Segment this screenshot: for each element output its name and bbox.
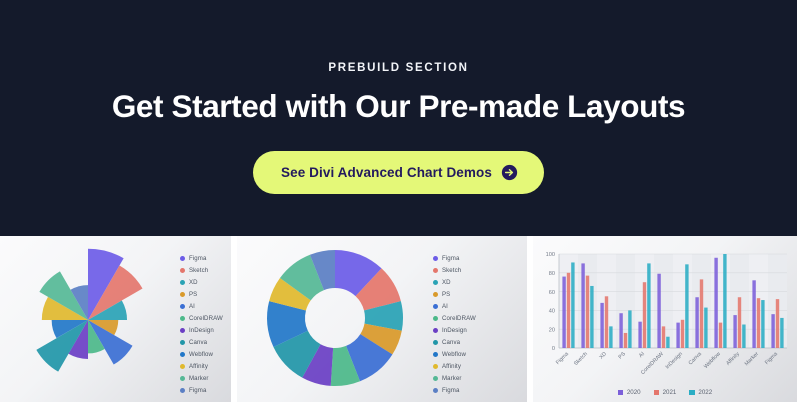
legend-item[interactable]: Affinity xyxy=(180,361,223,372)
bar-2021-Figma xyxy=(776,299,779,348)
legend-item-label: Figma xyxy=(189,387,206,394)
legend-item-label: AI xyxy=(189,303,195,310)
legend-item-label: XD xyxy=(189,279,198,286)
legend-item-label: Marker xyxy=(189,375,209,382)
bar-2021-PS xyxy=(624,333,627,348)
x-axis-tick-label: Figma xyxy=(555,351,570,366)
legend-item[interactable]: Figma xyxy=(180,253,223,264)
legend-item[interactable]: Canva xyxy=(180,337,223,348)
legend-item-label: Affinity xyxy=(189,363,208,370)
legend-item[interactable]: PS xyxy=(180,289,223,300)
legend-item[interactable]: Figma xyxy=(180,385,223,396)
bar-legend-item-2020[interactable]: 2020 xyxy=(618,389,641,396)
legend-item-label: Figma xyxy=(442,255,459,262)
bar-legend-label: 2020 xyxy=(627,389,641,396)
bar-2020-Figma xyxy=(771,314,774,348)
legend-swatch-rose-8 xyxy=(180,352,185,357)
legend-item-label: Affinity xyxy=(442,363,461,370)
bar-chart-graphic: 020406080100FigmaSketchXDPSAICorelDRAWIn… xyxy=(533,244,797,394)
legend-swatch-rose-4 xyxy=(180,304,185,309)
y-axis-tick-label: 100 xyxy=(546,252,555,258)
bar-legend-item-2021[interactable]: 2021 xyxy=(654,389,677,396)
bar-2020-Webflow xyxy=(714,258,717,348)
bar-2021-CorelDRAW xyxy=(662,326,665,348)
legend-swatch-donut-10 xyxy=(433,376,438,381)
bar-2021-Figma xyxy=(567,273,570,348)
legend-swatch-rose-1 xyxy=(180,268,185,273)
legend-swatch-rose-7 xyxy=(180,340,185,345)
panel-bar-chart[interactable]: 020406080100FigmaSketchXDPSAICorelDRAWIn… xyxy=(533,236,797,402)
legend-item-label: InDesign xyxy=(189,327,214,334)
legend-item[interactable]: Marker xyxy=(433,373,476,384)
legend-item[interactable]: Figma xyxy=(433,253,476,264)
bar-2020-Sketch xyxy=(581,263,584,348)
eyebrow-label: PREBUILD SECTION xyxy=(328,62,468,74)
legend-swatch-donut-0 xyxy=(433,256,438,261)
bar-2022-Affinity xyxy=(742,325,745,349)
x-axis-tick-label: Affinity xyxy=(725,351,741,367)
legend-swatch-donut-11 xyxy=(433,388,438,393)
legend-item-label: Canva xyxy=(189,339,207,346)
legend-swatch-rose-2 xyxy=(180,280,185,285)
legend-item[interactable]: Sketch xyxy=(433,265,476,276)
bar-2021-AI xyxy=(643,282,646,348)
panel-rose-chart[interactable]: FigmaSketchXDPSAICorelDRAWInDesignCanvaW… xyxy=(0,236,231,402)
legend-item[interactable]: InDesign xyxy=(433,325,476,336)
bar-legend-label: 2021 xyxy=(663,389,677,396)
legend-swatch-donut-6 xyxy=(433,328,438,333)
legend-swatch-donut-5 xyxy=(433,316,438,321)
rose-chart-graphic xyxy=(0,236,180,402)
y-axis-tick-label: 20 xyxy=(549,327,555,333)
legend-item[interactable]: Marker xyxy=(180,373,223,384)
legend-swatch-rose-10 xyxy=(180,376,185,381)
legend-item[interactable]: XD xyxy=(180,277,223,288)
bar-2021-Affinity xyxy=(738,297,741,348)
legend-swatch-donut-9 xyxy=(433,364,438,369)
donut-chart-legend: FigmaSketchXDPSAICorelDRAWInDesignCanvaW… xyxy=(433,253,476,396)
x-axis-tick-label: Webflow xyxy=(703,351,722,370)
legend-item[interactable]: Affinity xyxy=(433,361,476,372)
bar-2021-Webflow xyxy=(719,323,722,348)
bar-legend-swatch xyxy=(618,390,624,396)
legend-swatch-donut-8 xyxy=(433,352,438,357)
bar-legend-swatch xyxy=(654,390,660,396)
bar-legend-item-2022[interactable]: 2022 xyxy=(689,389,712,396)
donut-chart-graphic xyxy=(237,236,433,402)
legend-swatch-donut-1 xyxy=(433,268,438,273)
legend-swatch-rose-3 xyxy=(180,292,185,297)
y-axis-tick-label: 80 xyxy=(549,271,555,277)
bar-2021-Marker xyxy=(757,298,760,348)
legend-swatch-rose-0 xyxy=(180,256,185,261)
x-axis-tick-label: Sketch xyxy=(573,351,589,367)
legend-item[interactable]: Webflow xyxy=(180,349,223,360)
bar-2022-PS xyxy=(628,310,631,348)
legend-item-label: Sketch xyxy=(189,267,208,274)
y-axis-tick-label: 40 xyxy=(549,309,555,315)
bar-2022-InDesign xyxy=(685,264,688,348)
x-axis-tick-label: AI xyxy=(638,351,646,359)
see-chart-demos-button[interactable]: See Divi Advanced Chart Demos xyxy=(253,151,544,194)
legend-item[interactable]: CorelDRAW xyxy=(433,313,476,324)
legend-item-label: Webflow xyxy=(442,351,466,358)
bar-2020-Figma xyxy=(562,277,565,348)
page-root: PREBUILD SECTION Get Started with Our Pr… xyxy=(0,0,797,402)
legend-item-label: Figma xyxy=(189,255,206,262)
bar-2020-AI xyxy=(638,322,641,348)
x-axis-tick-label: Canva xyxy=(688,351,703,366)
legend-item[interactable]: XD xyxy=(433,277,476,288)
bar-2020-InDesign xyxy=(676,323,679,348)
bar-2022-CorelDRAW xyxy=(666,337,669,348)
y-axis-tick-label: 0 xyxy=(552,346,555,352)
chart-panels-strip: FigmaSketchXDPSAICorelDRAWInDesignCanvaW… xyxy=(0,236,797,402)
legend-item[interactable]: Webflow xyxy=(433,349,476,360)
bar-2020-Affinity xyxy=(733,315,736,348)
x-axis-tick-label: InDesign xyxy=(665,351,684,370)
legend-item[interactable]: AI xyxy=(433,301,476,312)
legend-swatch-donut-7 xyxy=(433,340,438,345)
legend-item-label: CorelDRAW xyxy=(189,315,223,322)
legend-item[interactable]: AI xyxy=(180,301,223,312)
bar-2020-Canva xyxy=(695,297,698,348)
cta-wrapper: See Divi Advanced Chart Demos xyxy=(253,151,544,194)
bar-2022-Figma xyxy=(780,318,783,348)
legend-item-label: AI xyxy=(442,303,448,310)
legend-item[interactable]: InDesign xyxy=(180,325,223,336)
legend-swatch-rose-9 xyxy=(180,364,185,369)
bar-2020-CorelDRAW xyxy=(657,274,660,348)
legend-item-label: Marker xyxy=(442,375,462,382)
legend-item[interactable]: PS xyxy=(433,289,476,300)
bar-legend-swatch xyxy=(689,390,695,396)
legend-item[interactable]: Canva xyxy=(433,337,476,348)
arrow-right-circle-icon xyxy=(501,164,518,181)
y-axis-tick-label: 60 xyxy=(549,290,555,296)
legend-item-label: Webflow xyxy=(189,351,213,358)
legend-item-label: Sketch xyxy=(442,267,461,274)
rose-chart-legend: FigmaSketchXDPSAICorelDRAWInDesignCanvaW… xyxy=(180,253,223,396)
panel-donut-chart[interactable]: FigmaSketchXDPSAICorelDRAWInDesignCanvaW… xyxy=(237,236,527,402)
legend-item[interactable]: Sketch xyxy=(180,265,223,276)
bar-2021-XD xyxy=(605,296,608,348)
legend-item-label: PS xyxy=(189,291,197,298)
x-axis-tick-label: XD xyxy=(598,351,608,361)
legend-swatch-donut-4 xyxy=(433,304,438,309)
bar-2022-Webflow xyxy=(723,254,726,348)
bar-2022-AI xyxy=(647,263,650,348)
legend-swatch-donut-3 xyxy=(433,292,438,297)
legend-item-label: Canva xyxy=(442,339,460,346)
bar-legend-label: 2022 xyxy=(698,389,712,396)
legend-item[interactable]: CorelDRAW xyxy=(180,313,223,324)
bar-2020-PS xyxy=(619,313,622,348)
hero-section: PREBUILD SECTION Get Started with Our Pr… xyxy=(0,0,797,236)
legend-swatch-rose-5 xyxy=(180,316,185,321)
bar-chart-legend: 202020212022 xyxy=(533,389,797,396)
legend-item-label: CorelDRAW xyxy=(442,315,476,322)
legend-item-label: InDesign xyxy=(442,327,467,334)
bar-2021-Canva xyxy=(700,279,703,348)
bar-2020-Marker xyxy=(752,280,755,348)
x-axis-tick-label: Figma xyxy=(764,351,779,366)
bar-2021-Sketch xyxy=(586,276,589,348)
bar-2022-Canva xyxy=(704,308,707,348)
x-axis-tick-label: Marker xyxy=(744,351,760,367)
legend-swatch-rose-6 xyxy=(180,328,185,333)
legend-item-label: Figma xyxy=(442,387,459,394)
bar-2022-Figma xyxy=(571,262,574,348)
legend-swatch-donut-2 xyxy=(433,280,438,285)
legend-swatch-rose-11 xyxy=(180,388,185,393)
page-title: Get Started with Our Pre-made Layouts xyxy=(112,88,685,125)
legend-item-label: PS xyxy=(442,291,450,298)
bar-2022-XD xyxy=(609,326,612,348)
bar-2022-Marker xyxy=(761,300,764,348)
legend-item-label: XD xyxy=(442,279,451,286)
cta-label: See Divi Advanced Chart Demos xyxy=(281,165,492,180)
legend-item[interactable]: Figma xyxy=(433,385,476,396)
bar-2022-Sketch xyxy=(590,286,593,348)
bar-2020-XD xyxy=(600,303,603,348)
bar-2021-InDesign xyxy=(681,320,684,348)
x-axis-tick-label: PS xyxy=(618,351,628,361)
